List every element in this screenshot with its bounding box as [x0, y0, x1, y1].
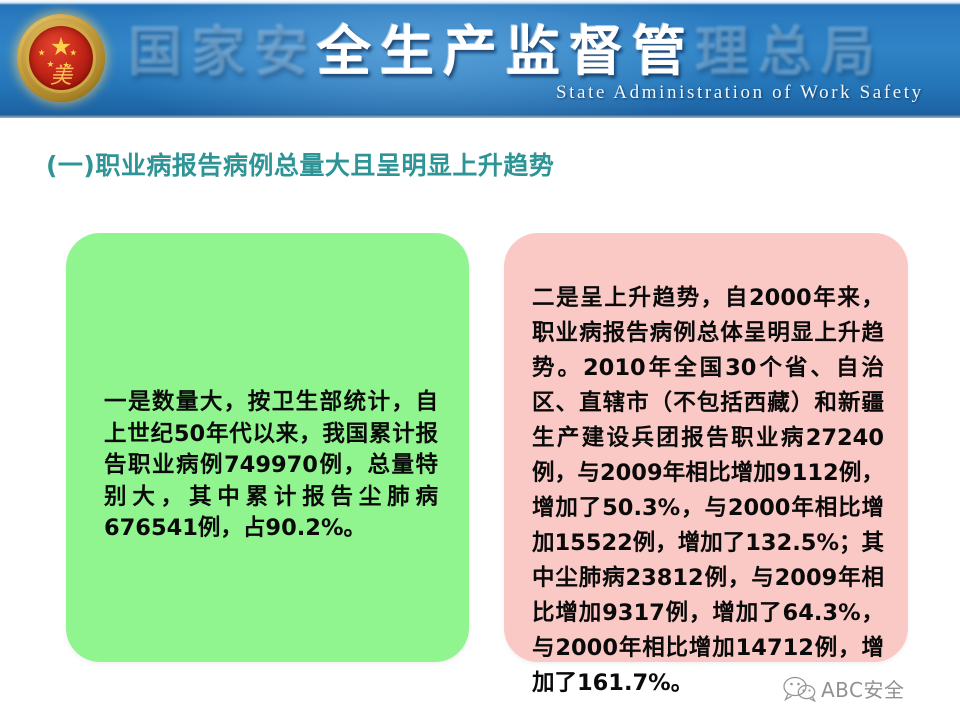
- pink-box-text: 二是呈上升趋势，自2000年来，职业病报告病例总体呈明显上升趋势。2010年全国…: [532, 281, 884, 701]
- banner-char: 全: [317, 25, 371, 79]
- banner-char: 生: [380, 25, 434, 79]
- content-box-green: 一是数量大，按卫生部统计，自上世纪50年代以来，我国累计报告职业病例749970…: [66, 233, 469, 662]
- wechat-bubble-icon: [782, 674, 816, 702]
- header-banner: 美 国 家 安 全 生 产 监 督 管 理 总 局 State Administ…: [0, 0, 960, 118]
- banner-top-highlight: [0, 0, 960, 5]
- banner-char: 国: [128, 25, 182, 79]
- watermark-label: ABC安全: [821, 674, 905, 703]
- banner-char: 管: [632, 25, 686, 79]
- banner-title-en: State Administration of Work Safety: [556, 82, 924, 104]
- banner-char: 理: [695, 25, 749, 79]
- banner-char: 家: [191, 25, 245, 79]
- banner-char: 总: [758, 25, 812, 79]
- page-title: (一)职业病报告病例总量大且呈明显上升趋势: [46, 146, 554, 182]
- banner-char: 监: [506, 25, 560, 79]
- banner-char: 产: [443, 25, 497, 79]
- banner-title-cn: 国 家 安 全 生 产 监 督 管 理 总 局: [128, 16, 948, 88]
- banner-char: 安: [254, 25, 308, 79]
- content-box-pink: 二是呈上升趋势，自2000年来，职业病报告病例总体呈明显上升趋势。2010年全国…: [504, 233, 908, 662]
- national-emblem-icon: 美: [17, 14, 105, 102]
- banner-char: 督: [569, 25, 623, 79]
- watermark: ABC安全: [782, 668, 952, 708]
- banner-char: 局: [821, 25, 875, 79]
- green-box-text: 一是数量大，按卫生部统计，自上世纪50年代以来，我国累计报告职业病例749970…: [104, 387, 438, 545]
